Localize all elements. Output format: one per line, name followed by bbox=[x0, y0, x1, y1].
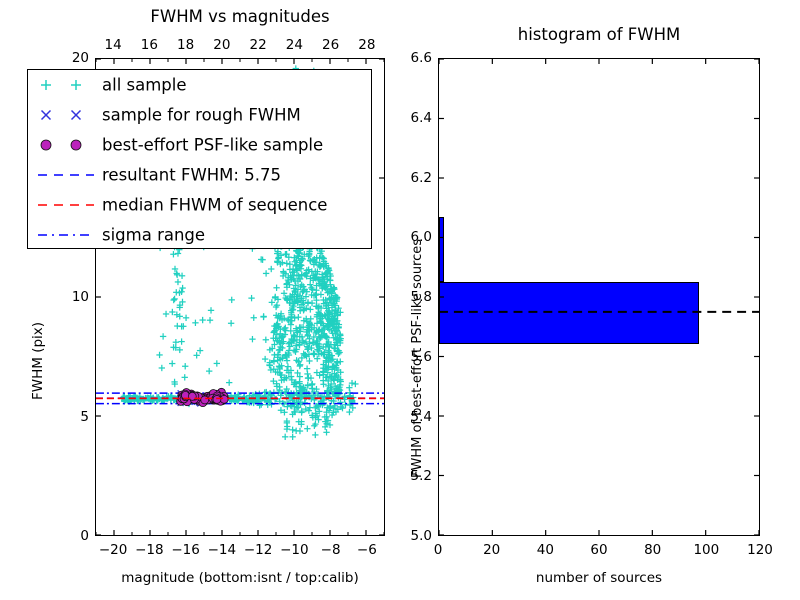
left-top-xtick-label: 16 bbox=[141, 37, 158, 53]
left-xtick-label: −16 bbox=[171, 542, 200, 558]
right-ytick-label: 6.4 bbox=[390, 110, 432, 126]
left-xtick-label: −12 bbox=[244, 542, 273, 558]
left-ytick-label: 10 bbox=[51, 289, 89, 305]
right-xtick-label: 80 bbox=[644, 542, 661, 558]
right-xtick-label: 20 bbox=[483, 542, 500, 558]
legend-marker-none-icon bbox=[32, 190, 100, 220]
left-ytick-label: 0 bbox=[51, 528, 89, 544]
left-top-xtick-label: 20 bbox=[213, 37, 230, 53]
legend-marker-none-icon bbox=[32, 220, 100, 250]
legend-label: sample for rough FWHM bbox=[102, 106, 301, 125]
left-xtick-label: −20 bbox=[99, 542, 128, 558]
left-top-xtick-label: 18 bbox=[177, 37, 194, 53]
right-xtick-label: 40 bbox=[537, 542, 554, 558]
right-xaxis-label: number of sources bbox=[438, 570, 760, 586]
right-xtick-label: 100 bbox=[693, 542, 719, 558]
left-xtick-label: −8 bbox=[321, 542, 341, 558]
legend-entry: median FHWM of sequence bbox=[28, 190, 371, 220]
histogram-of-fwhm-axes bbox=[438, 58, 760, 536]
legend-entry: sample for rough FWHM bbox=[28, 100, 371, 130]
legend-marker-circle-icon bbox=[32, 130, 100, 160]
left-top-xtick-label: 22 bbox=[250, 37, 267, 53]
left-plot-title: FWHM vs magnitudes bbox=[95, 7, 385, 26]
right-ytick-label: 5.0 bbox=[390, 528, 432, 544]
legend-label: sigma range bbox=[102, 226, 205, 245]
legend-label: median FHWM of sequence bbox=[102, 196, 327, 215]
left-yaxis-label: FWHM (pix) bbox=[30, 322, 46, 400]
legend-box: all samplesample for rough FWHMbest-effo… bbox=[27, 69, 372, 249]
legend-label: best-effort PSF-like sample bbox=[102, 136, 323, 155]
legend-marker-cross-icon bbox=[32, 100, 100, 130]
left-xtick-label: −6 bbox=[357, 542, 377, 558]
left-ytick-label: 5 bbox=[51, 409, 89, 425]
left-top-xtick-label: 14 bbox=[105, 37, 122, 53]
left-xtick-label: −14 bbox=[208, 542, 237, 558]
histogram-overlay-canvas bbox=[439, 59, 759, 535]
right-ytick-label: 6.6 bbox=[390, 50, 432, 66]
left-xtick-label: −10 bbox=[280, 542, 309, 558]
legend-marker-plus-icon bbox=[32, 70, 100, 100]
legend-entry: resultant FWHM: 5.75 bbox=[28, 160, 371, 190]
right-ytick-label: 6.2 bbox=[390, 170, 432, 186]
right-xtick-label: 60 bbox=[590, 542, 607, 558]
left-xaxis-label: magnitude (bottom:isnt / top:calib) bbox=[95, 570, 385, 586]
legend-entry: best-effort PSF-like sample bbox=[28, 130, 371, 160]
right-plot-title: histogram of FWHM bbox=[438, 25, 760, 44]
right-xtick-label: 120 bbox=[747, 542, 773, 558]
right-xtick-label: 0 bbox=[434, 542, 443, 558]
figure-canvas: FWHM vs magnitudes 1416182022242628 −20−… bbox=[0, 0, 800, 600]
legend-entry: all sample bbox=[28, 70, 371, 100]
left-xtick-label: −18 bbox=[135, 542, 164, 558]
left-top-xtick-label: 24 bbox=[286, 37, 303, 53]
right-yaxis-label: FWHM of best-effort PSF-like sources bbox=[410, 239, 425, 478]
left-top-xtick-label: 26 bbox=[322, 37, 339, 53]
left-top-xtick-label: 28 bbox=[358, 37, 375, 53]
legend-label: resultant FWHM: 5.75 bbox=[102, 166, 281, 185]
legend-entry: sigma range bbox=[28, 220, 371, 250]
psf-like-sample-points bbox=[177, 388, 229, 406]
legend-marker-none-icon bbox=[32, 160, 100, 190]
left-ytick-label: 20 bbox=[51, 50, 89, 66]
legend-label: all sample bbox=[102, 76, 187, 95]
